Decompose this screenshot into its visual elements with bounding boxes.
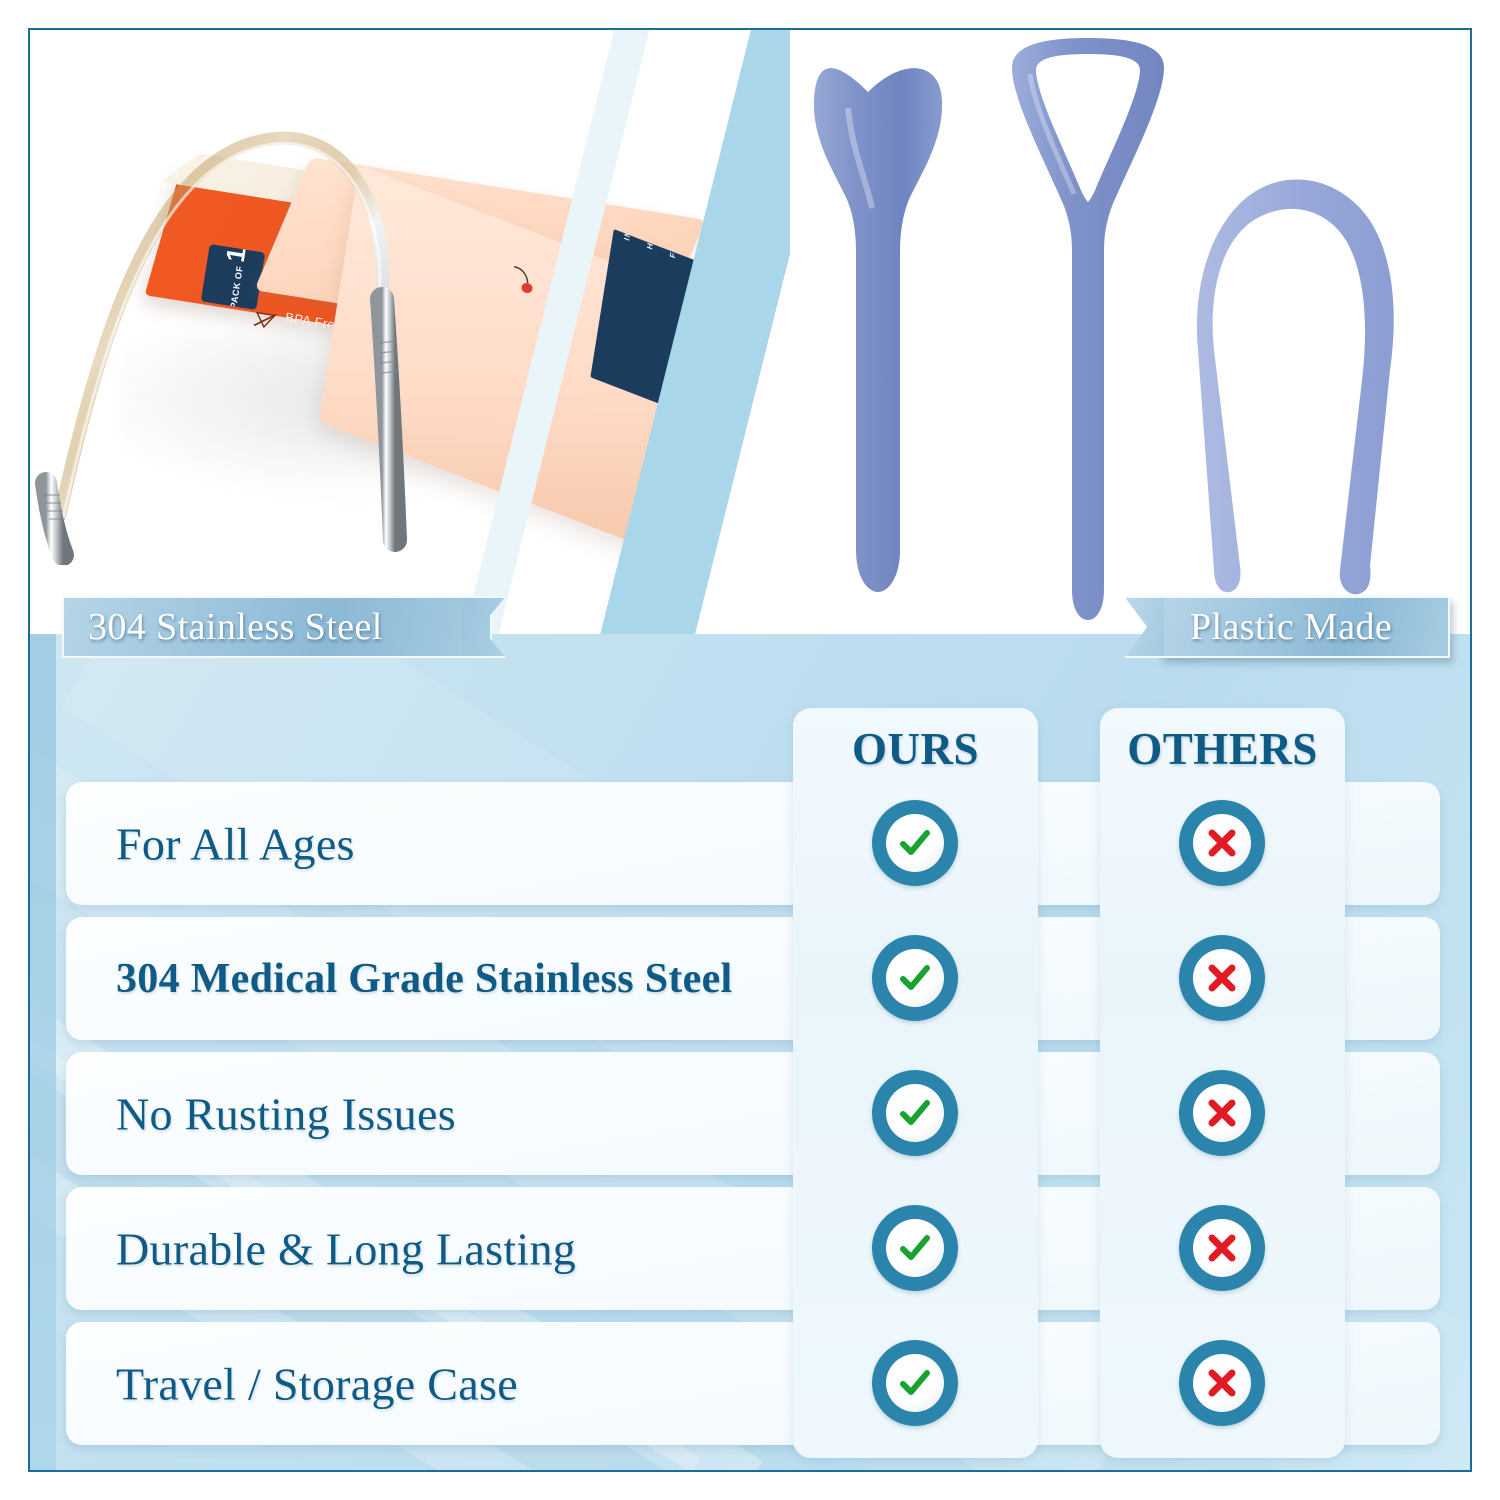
infographic-canvas: PACK OF 1 BPA Free IMPROVES ORAL HYGIENE… (0, 0, 1500, 1500)
plastic-scrapers-illustration (790, 30, 1470, 634)
check-circle-icon (872, 1205, 958, 1291)
cross-circle-icon (1179, 935, 1265, 1021)
column-header-ours: OURS (793, 716, 1038, 782)
check-circle-icon (872, 1070, 958, 1156)
check-circle-icon (872, 935, 958, 1021)
cross-circle-icon (1179, 1070, 1265, 1156)
cross-circle-icon (1179, 1205, 1265, 1291)
cross-circle-icon (1179, 1340, 1265, 1426)
check-circle-icon (872, 1340, 958, 1426)
comparison-table: For All Ages 304 Medical Grade Stainless… (30, 634, 1470, 1472)
photo-comparison-area: PACK OF 1 BPA Free IMPROVES ORAL HYGIENE… (30, 30, 1470, 634)
column-header-others: OTHERS (1100, 716, 1345, 782)
banner-left-label: 304 Stainless Steel (88, 605, 383, 649)
check-circle-icon (872, 800, 958, 886)
cross-circle-icon (1179, 800, 1265, 886)
banner-plastic-made: Plastic Made (1160, 596, 1450, 658)
plastic-product-photo (790, 30, 1470, 634)
steel-tongue-scraper-illustration (30, 85, 480, 565)
banner-right-label: Plastic Made (1190, 605, 1392, 649)
paddle-scraper-shape (814, 68, 942, 592)
cherry-illustration-icon (499, 259, 542, 302)
loop-scraper-shape (1012, 38, 1164, 620)
u-shape-scraper-shape (1197, 179, 1394, 594)
banner-304-stainless-steel: 304 Stainless Steel (62, 596, 492, 658)
